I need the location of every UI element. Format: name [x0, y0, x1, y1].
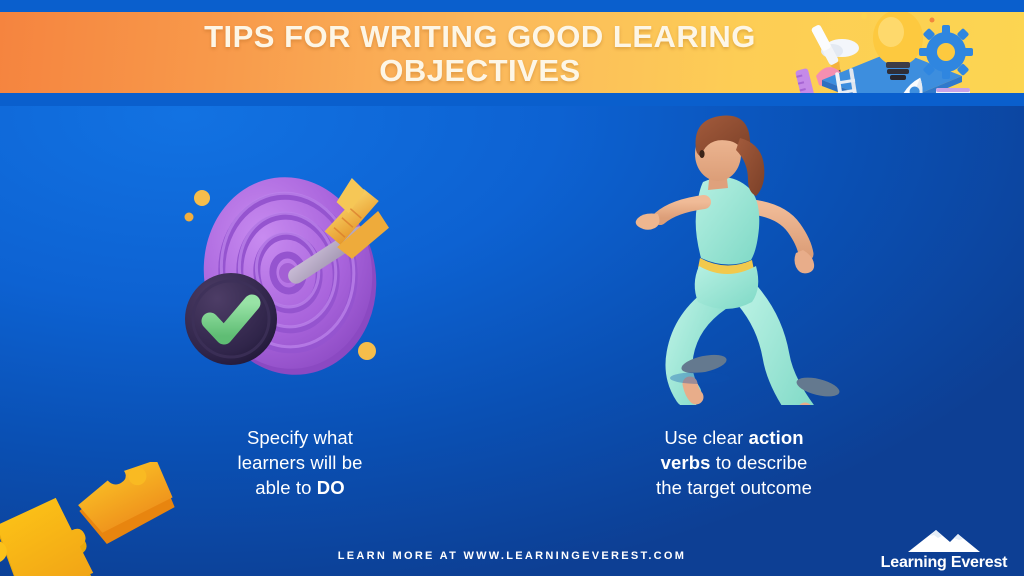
- tip-caption-action-verbs: Use clear action verbs to describe the t…: [622, 425, 846, 500]
- caption-line-2-bold: verbs: [661, 452, 711, 473]
- confetti-dot: [930, 18, 935, 23]
- caption-line-3-prefix: able to: [255, 477, 317, 498]
- runner-illustration: [600, 110, 860, 405]
- page-title: TIPS FOR WRITING GOOD LEARING OBJECTIVES: [110, 20, 850, 88]
- ruler-icon: [795, 68, 818, 93]
- target-illustration: [178, 155, 408, 385]
- gear-icon: [919, 25, 973, 79]
- banner-top-strip: [0, 0, 1024, 12]
- logo-text: Learning Everest: [878, 554, 1010, 572]
- target-illustration-svg: [178, 155, 408, 385]
- runner-back-leg: [748, 296, 810, 405]
- poster-canvas: TIPS FOR WRITING GOOD LEARING OBJECTIVES: [0, 0, 1024, 576]
- footer-url-text: LEARN MORE AT WWW.LEARNINGEVEREST.COM: [0, 550, 1024, 562]
- check-badge: [185, 273, 277, 365]
- gold-dot: [185, 213, 194, 222]
- runner-hand: [636, 214, 660, 230]
- puzzle-piece-right: [72, 462, 179, 548]
- header-decoration-art: [786, 12, 1016, 93]
- caption-line-2: learners will be: [238, 452, 363, 473]
- caption-line-2-suffix: to describe: [711, 452, 808, 473]
- confetti-dot: [861, 13, 867, 19]
- caption-line-1-bold: action: [749, 427, 804, 448]
- gold-dot: [358, 342, 376, 360]
- caption-line-1: Specify what: [247, 427, 353, 448]
- runner-top: [696, 177, 760, 264]
- banner-bottom-strip: [0, 93, 1024, 106]
- tip-caption-specify: Specify what learners will be able to DO: [196, 425, 404, 500]
- header-art-svg: [786, 12, 1016, 93]
- gold-dot: [194, 190, 210, 206]
- caption-line-3-bold: DO: [317, 477, 345, 498]
- caption-line-3: the target outcome: [656, 477, 812, 498]
- mountain-icon: [878, 528, 1010, 554]
- runner-illustration-svg: [600, 110, 860, 405]
- brand-logo[interactable]: Learning Everest: [878, 528, 1010, 572]
- header-banner: TIPS FOR WRITING GOOD LEARING OBJECTIVES: [0, 12, 1024, 93]
- runner-eye: [699, 150, 704, 158]
- caption-line-1-prefix: Use clear: [664, 427, 748, 448]
